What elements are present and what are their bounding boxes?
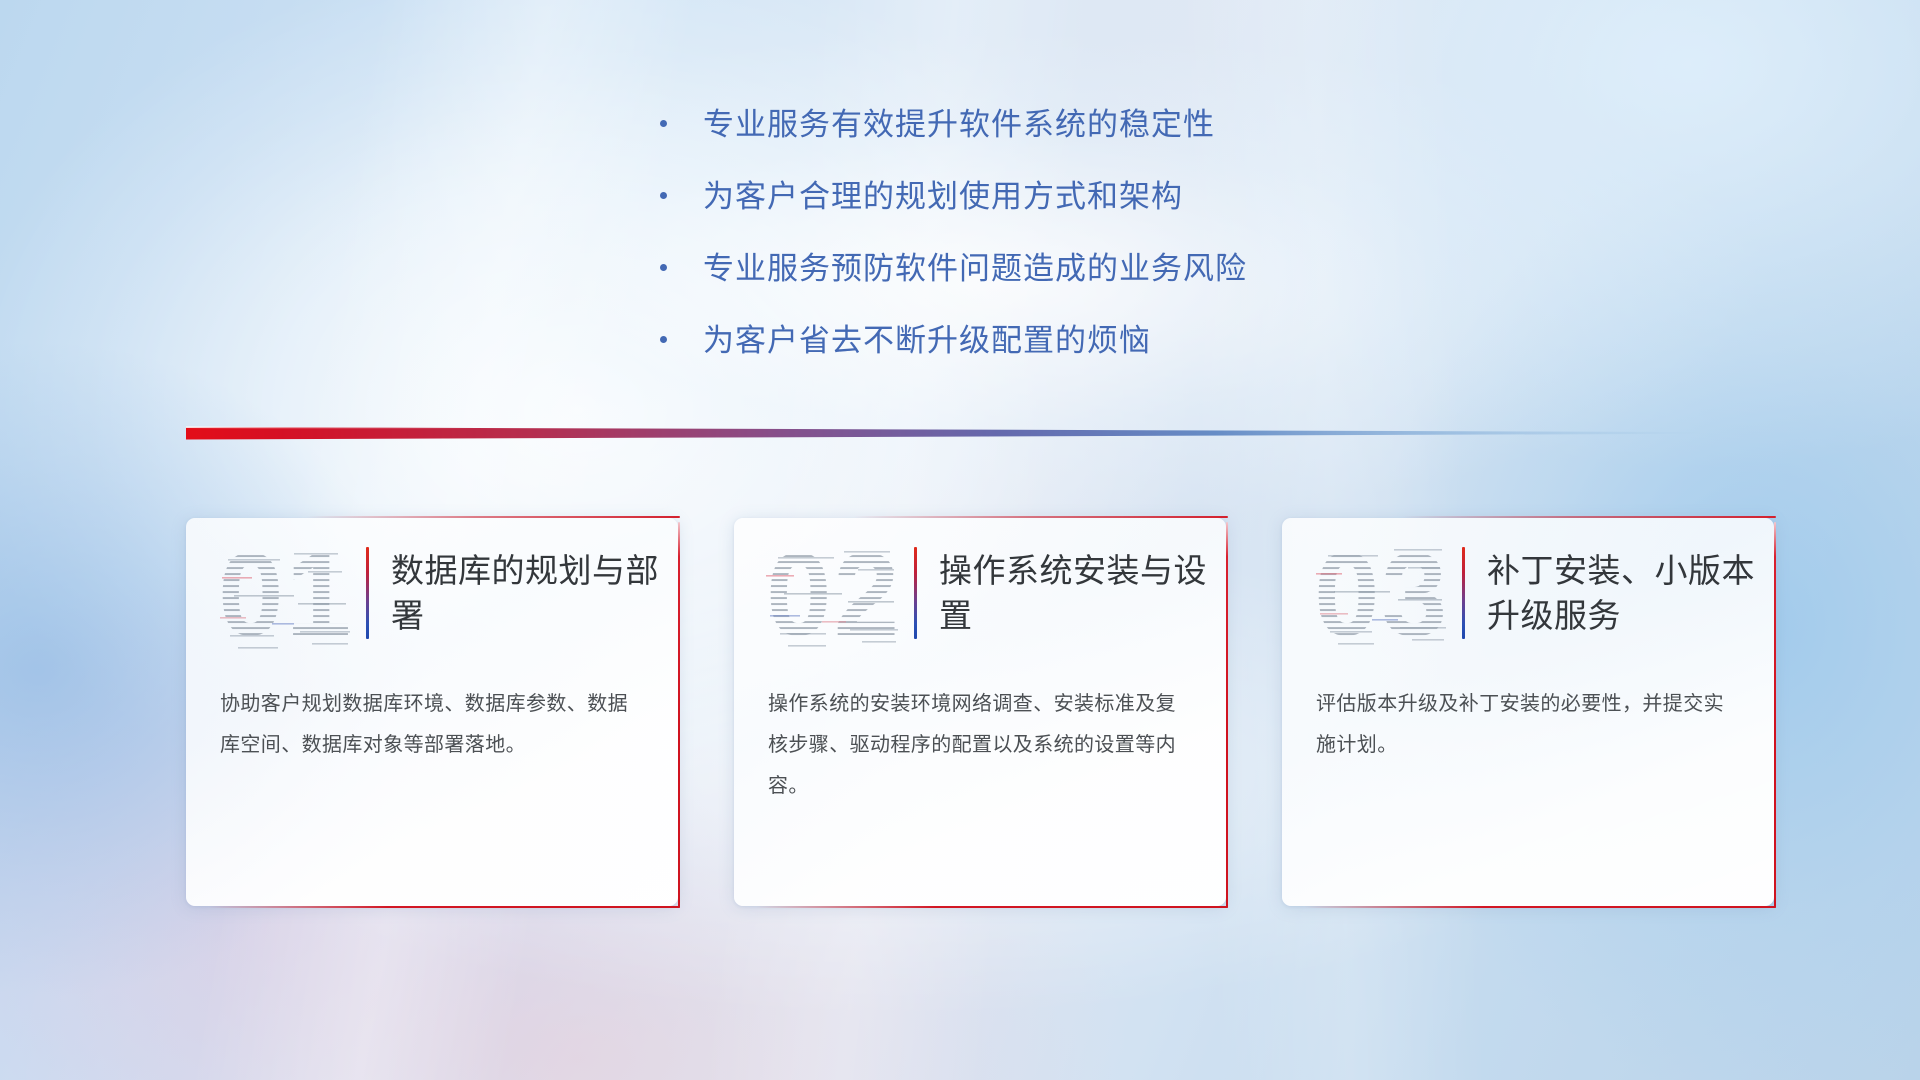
card-title: 补丁安装、小版本升级服务 bbox=[1487, 547, 1774, 639]
service-card[interactable]: 02 bbox=[734, 518, 1226, 906]
bullet-dot-icon bbox=[660, 192, 667, 199]
card-number-glitch-icon: 03 bbox=[1308, 531, 1456, 655]
slide-stage: 专业服务有效提升软件系统的稳定性 为客户合理的规划使用方式和架构 专业服务预防软… bbox=[0, 0, 1920, 1080]
card-description: 协助客户规划数据库环境、数据库参数、数据库空间、数据库对象等部署落地。 bbox=[186, 668, 678, 766]
glitch-number-svg: 01 bbox=[212, 531, 360, 655]
glitch-number-svg: 02 bbox=[760, 531, 908, 655]
card-title-divider bbox=[914, 547, 917, 639]
list-item: 专业服务预防软件问题造成的业务风险 bbox=[660, 248, 1247, 290]
list-item: 为客户省去不断升级配置的烦恼 bbox=[660, 320, 1247, 362]
card-accent-right bbox=[1774, 522, 1776, 908]
service-card[interactable]: 03 bbox=[1282, 518, 1774, 906]
glitch-number-svg: 03 bbox=[1308, 531, 1456, 655]
card-header: 02 bbox=[734, 518, 1226, 668]
benefits-bullet-list: 专业服务有效提升软件系统的稳定性 为客户合理的规划使用方式和架构 专业服务预防软… bbox=[660, 104, 1247, 361]
list-item: 为客户合理的规划使用方式和架构 bbox=[660, 176, 1247, 218]
bullet-text: 专业服务有效提升软件系统的稳定性 bbox=[703, 104, 1215, 146]
card-header: 03 bbox=[1282, 518, 1774, 668]
service-card[interactable]: 01 bbox=[186, 518, 678, 906]
bullet-dot-icon bbox=[660, 264, 667, 271]
card-description: 操作系统的安装环境网络调查、安装标准及复核步骤、驱动程序的配置以及系统的设置等内… bbox=[734, 668, 1226, 807]
card-accent-bottom bbox=[756, 906, 1228, 908]
card-header: 01 bbox=[186, 518, 678, 668]
bullet-dot-icon bbox=[660, 336, 667, 343]
service-card-row: 01 bbox=[186, 518, 1774, 906]
card-title: 操作系统安装与设置 bbox=[939, 547, 1226, 639]
card-title: 数据库的规划与部署 bbox=[391, 547, 678, 639]
card-number-glitch-icon: 02 bbox=[760, 531, 908, 655]
bullet-text: 为客户合理的规划使用方式和架构 bbox=[703, 176, 1183, 218]
section-divider bbox=[186, 424, 1746, 446]
card-title-divider bbox=[366, 547, 369, 639]
list-item: 专业服务有效提升软件系统的稳定性 bbox=[660, 104, 1247, 146]
divider-wedge-icon bbox=[186, 424, 1746, 446]
card-number-glitch-icon: 01 bbox=[212, 531, 360, 655]
card-accent-bottom bbox=[208, 906, 680, 908]
card-accent-right bbox=[1226, 522, 1228, 908]
card-title-divider bbox=[1462, 547, 1465, 639]
card-description: 评估版本升级及补丁安装的必要性，并提交实施计划。 bbox=[1282, 668, 1774, 766]
card-accent-bottom bbox=[1304, 906, 1776, 908]
card-accent-right bbox=[678, 522, 680, 908]
bullet-dot-icon bbox=[660, 120, 667, 127]
bullet-text: 为客户省去不断升级配置的烦恼 bbox=[703, 320, 1151, 362]
bullet-text: 专业服务预防软件问题造成的业务风险 bbox=[703, 248, 1247, 290]
